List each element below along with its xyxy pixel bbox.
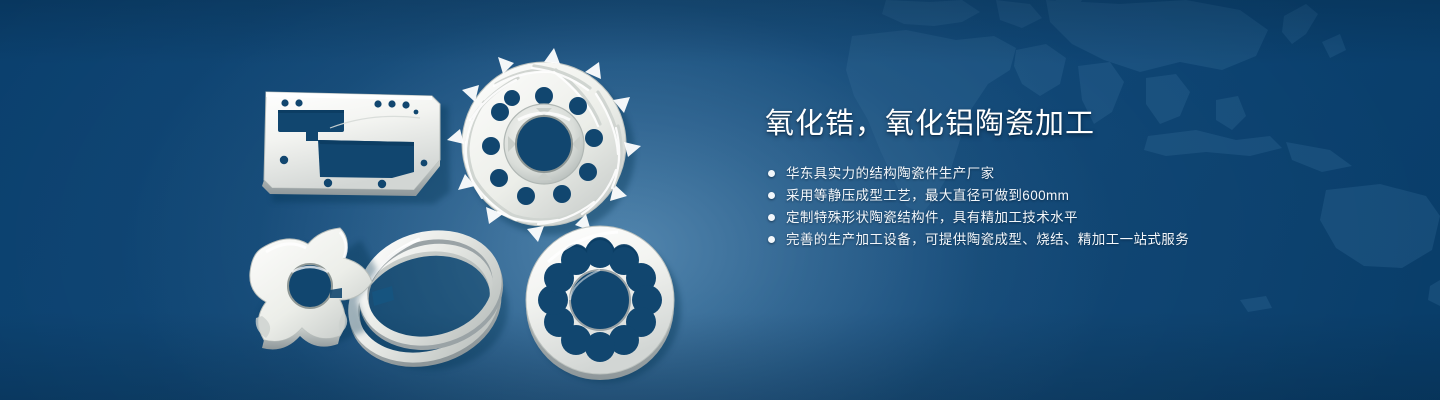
bullet-dot-icon [768, 170, 775, 177]
feature-text: 华东具实力的结构陶瓷件生产厂家 [786, 163, 995, 184]
feature-text: 采用等静压成型工艺，最大直径可做到600mm [786, 185, 1069, 206]
bullet-dot-icon [768, 236, 775, 243]
list-item: 完善的生产加工设备，可提供陶瓷成型、烧结、精加工一站式服务 [768, 229, 1365, 250]
feature-text: 定制特殊形状陶瓷结构件，具有精加工技术水平 [786, 207, 1078, 228]
list-item: 采用等静压成型工艺，最大直径可做到600mm [768, 185, 1365, 206]
feature-list: 华东具实力的结构陶瓷件生产厂家 采用等静压成型工艺，最大直径可做到600mm 定… [768, 163, 1365, 250]
bullet-dot-icon [768, 192, 775, 199]
page-title: 氧化锆，氧化铝陶瓷加工 [765, 104, 1365, 144]
list-item: 定制特殊形状陶瓷结构件，具有精加工技术水平 [768, 207, 1365, 228]
bullet-dot-icon [768, 214, 775, 221]
banner-copy: 氧化锆，氧化铝陶瓷加工 华东具实力的结构陶瓷件生产厂家 采用等静压成型工艺，最大… [765, 104, 1365, 251]
hero-banner: 氧化锆，氧化铝陶瓷加工 华东具实力的结构陶瓷件生产厂家 采用等静压成型工艺，最大… [0, 0, 1440, 400]
feature-text: 完善的生产加工设备，可提供陶瓷成型、烧结、精加工一站式服务 [786, 229, 1189, 250]
list-item: 华东具实力的结构陶瓷件生产厂家 [768, 163, 1365, 184]
